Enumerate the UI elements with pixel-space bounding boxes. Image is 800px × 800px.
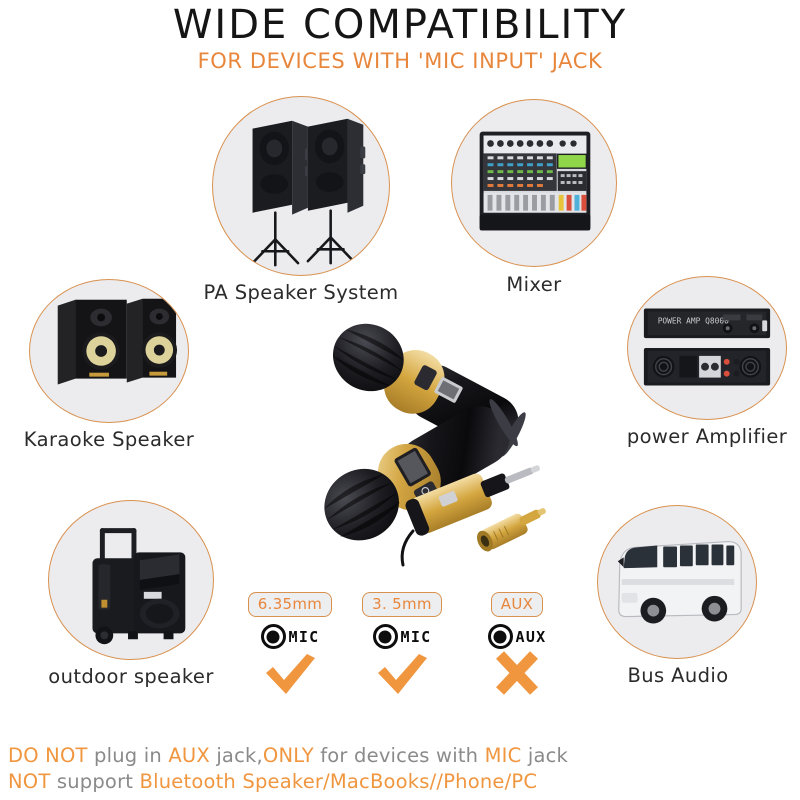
footer-seg: NOT xyxy=(8,770,57,793)
footer-seg: MIC xyxy=(485,744,528,767)
footer-seg: plug in xyxy=(94,744,168,767)
check-icon xyxy=(260,651,320,695)
aux-jack-icon xyxy=(488,624,513,649)
microphone-product-illustration xyxy=(295,275,565,575)
footer-seg: DO NOT xyxy=(8,744,94,767)
supported-mark-635 xyxy=(240,651,340,693)
cross-icon xyxy=(487,651,547,695)
jack-connector-35: MIC xyxy=(352,624,452,649)
karaoke-speaker-illustration xyxy=(30,280,188,422)
jack-option-aux: AUX AUX xyxy=(467,592,567,693)
jack-option-635: 6.35mm MIC xyxy=(240,592,340,693)
device-circle-frame xyxy=(597,505,757,659)
jack-connector-aux: AUX xyxy=(467,624,567,649)
unsupported-mark-aux xyxy=(467,651,567,693)
infographic-canvas: WIDE COMPATIBILITY FOR DEVICES WITH 'MIC… xyxy=(0,0,800,800)
device-label-outdoor-speaker: outdoor speaker xyxy=(1,665,261,688)
footer-note-line-1: DO NOT plug in AUX jack,ONLY for devices… xyxy=(8,744,568,767)
mic-jack-icon xyxy=(261,624,286,649)
footer-seg: jack, xyxy=(216,744,263,767)
power-amplifier-illustration: POWER AMP Q8000 xyxy=(628,277,786,419)
footer-seg: ONLY xyxy=(263,744,320,767)
device-circle-frame xyxy=(212,96,390,276)
jack-label-35: MIC xyxy=(401,628,432,646)
device-circle-frame: POWER AMP Q8000 xyxy=(627,276,787,420)
mic-jack-icon xyxy=(373,624,398,649)
jack-badge-35: 3. 5mm xyxy=(362,592,442,617)
footer-seg: AUX xyxy=(168,744,216,767)
jack-connector-635: MIC xyxy=(240,624,340,649)
device-label-karaoke-speaker: Karaoke Speaker xyxy=(0,428,239,451)
mixer-illustration xyxy=(452,100,616,266)
jack-badge-aux: AUX xyxy=(491,592,543,617)
outdoor-speaker-illustration xyxy=(49,501,213,659)
page-subtitle: FOR DEVICES WITH 'MIC INPUT' JACK xyxy=(0,49,800,73)
device-label-power-amplifier: power Amplifier xyxy=(577,425,800,448)
device-circle-frame xyxy=(48,500,214,660)
pa-speaker-system-illustration xyxy=(213,97,389,275)
svg-text:POWER AMP Q8000: POWER AMP Q8000 xyxy=(658,316,729,325)
jack-badge-635: 6.35mm xyxy=(248,592,332,617)
bus-audio-illustration xyxy=(598,506,756,658)
footer-seg: Bluetooth Speaker/MacBooks//Phone/PC xyxy=(140,770,538,793)
footer-note-line-2: NOT support Bluetooth Speaker/MacBooks//… xyxy=(8,770,537,793)
check-icon xyxy=(372,651,432,695)
jack-label-aux: AUX xyxy=(516,628,547,646)
jack-label-635: MIC xyxy=(289,628,320,646)
supported-mark-35 xyxy=(352,651,452,693)
footer-seg: support xyxy=(57,770,140,793)
device-circle-frame xyxy=(29,279,189,423)
footer-seg: jack xyxy=(528,744,568,767)
device-circle-frame xyxy=(451,99,617,267)
footer-seg: for devices with xyxy=(320,744,484,767)
page-title: WIDE COMPATIBILITY xyxy=(0,2,800,48)
device-label-bus-audio: Bus Audio xyxy=(548,664,800,687)
jack-option-35: 3. 5mm MIC xyxy=(352,592,452,693)
